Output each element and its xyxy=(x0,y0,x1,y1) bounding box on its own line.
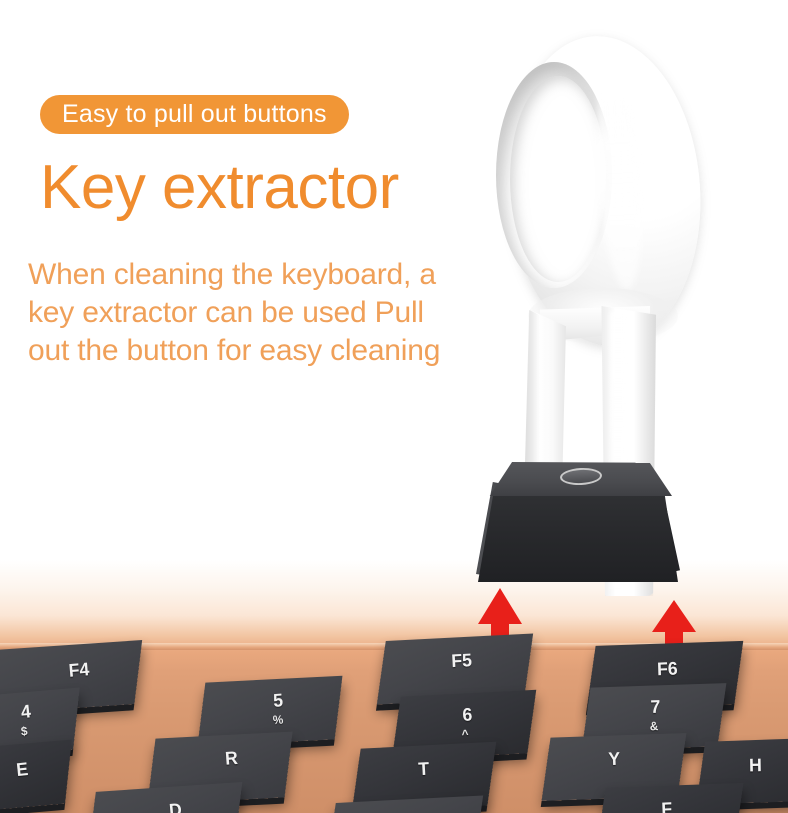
key-label: E xyxy=(15,760,29,780)
key-label: D xyxy=(168,800,182,813)
key-label: R xyxy=(224,749,238,768)
key-label: 6 xyxy=(462,705,473,724)
key-sublabel: ^ xyxy=(461,728,468,741)
description-paragraph: When cleaning the keyboard, a key extrac… xyxy=(28,256,528,370)
tagline-badge: Easy to pull out buttons xyxy=(40,95,349,134)
keyboard-key-e[interactable]: E xyxy=(0,740,72,813)
key-label: 4 xyxy=(20,702,32,721)
keyboard-key-d[interactable]: D xyxy=(88,782,243,813)
key-label: F5 xyxy=(451,651,473,670)
tagline-badge-label: Easy to pull out buttons xyxy=(62,100,327,129)
keyboard-key-f[interactable]: F xyxy=(597,783,744,813)
keycap-front-face xyxy=(478,490,678,582)
page-title: Key extractor xyxy=(40,152,399,224)
key-label: Y xyxy=(608,750,620,769)
key-label: 5 xyxy=(273,691,284,710)
product-marketing-image: Easy to pull out buttons Key extractor W… xyxy=(0,0,788,813)
extractor-ring-hole xyxy=(510,76,606,282)
key-label: H xyxy=(749,756,762,774)
key-sublabel: % xyxy=(272,713,283,726)
key-label: 7 xyxy=(650,697,660,716)
key-label: F6 xyxy=(657,659,678,678)
key-label: F xyxy=(661,800,672,813)
description-line-3: out the button for easy cleaning xyxy=(28,332,528,370)
arrow-left-head-icon xyxy=(478,588,522,624)
description-line-1: When cleaning the keyboard, a xyxy=(28,256,528,294)
removed-keycap xyxy=(468,462,688,587)
description-line-2: key extractor can be used Pull xyxy=(28,294,528,332)
key-sublabel: $ xyxy=(20,725,28,738)
key-label: F4 xyxy=(68,660,90,680)
key-label: T xyxy=(418,759,430,778)
keyboard-keys: F4F5F64$5%6^7&ERTYHDFV xyxy=(0,628,788,813)
key-sublabel: & xyxy=(650,720,659,732)
